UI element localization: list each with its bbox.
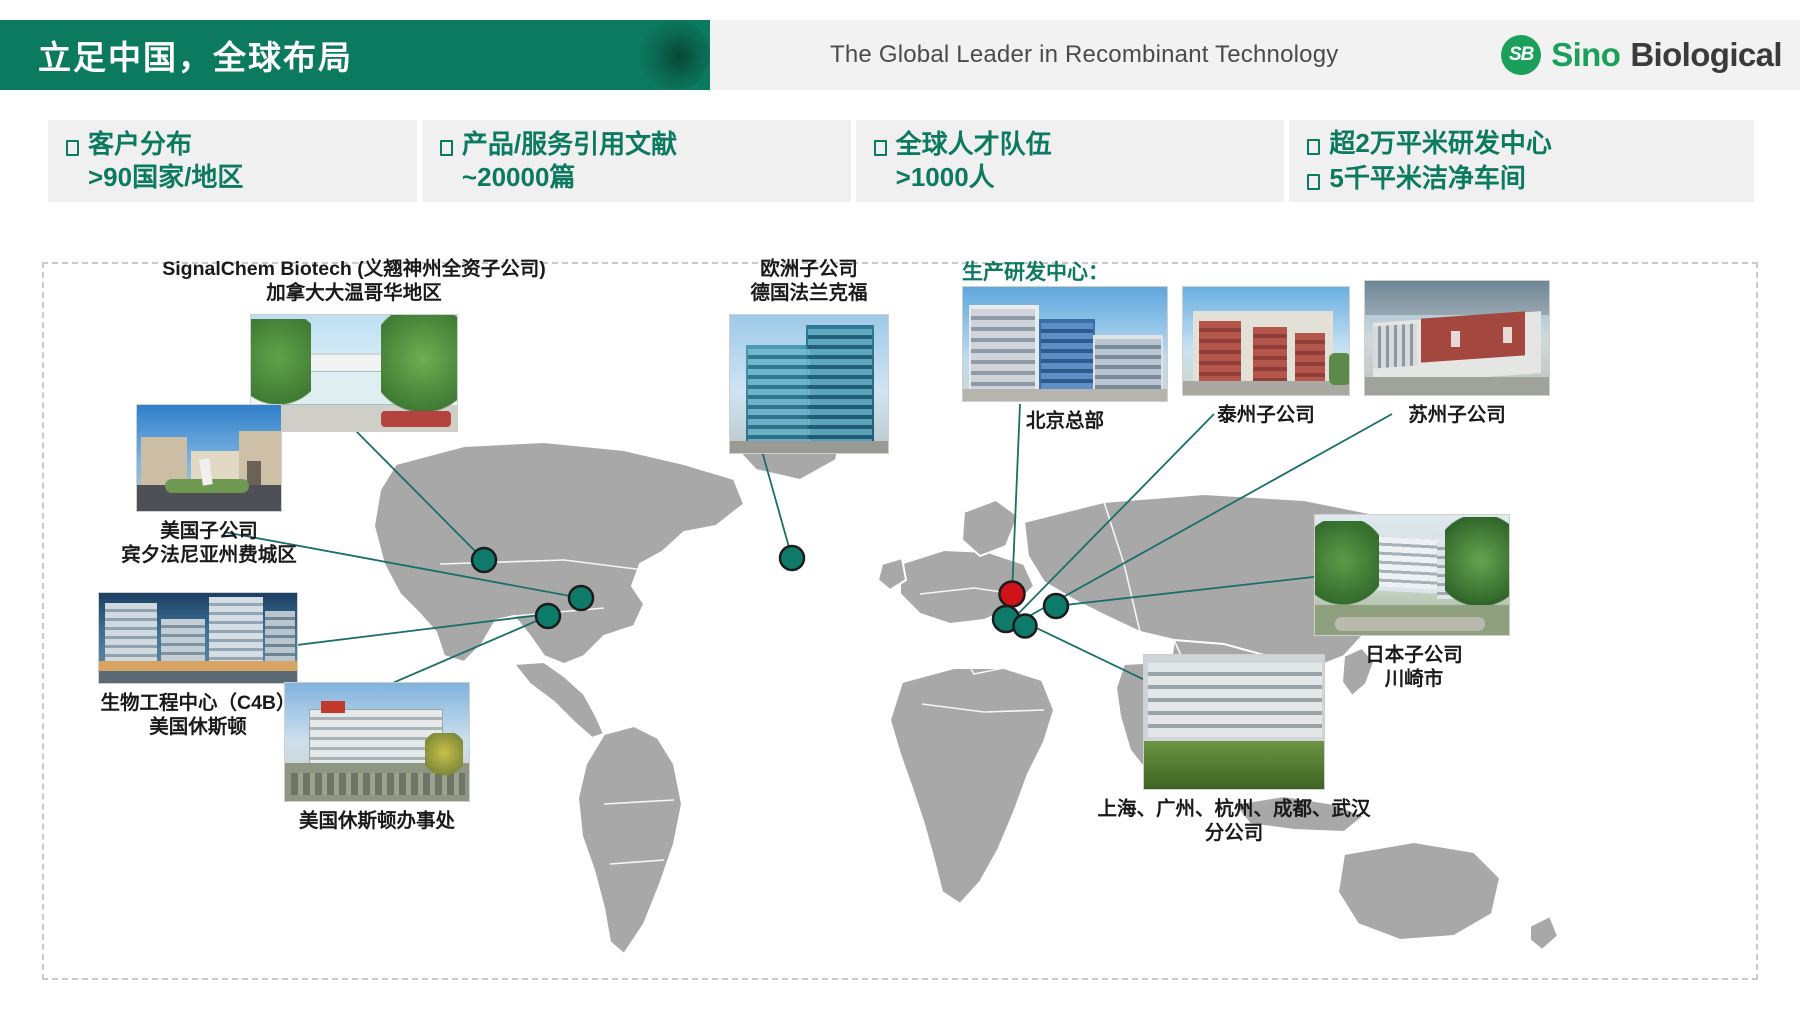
slide-root: 立足中国，全球布局 The Global Leader in Recombina… bbox=[0, 0, 1800, 1013]
stat-card-talent: 全球人才队伍 >1000人 bbox=[856, 120, 1285, 202]
logo-text-biological: Biological bbox=[1630, 36, 1782, 74]
photo-china-branches-building bbox=[1143, 654, 1325, 790]
callout-caption-line1: 美国子公司 bbox=[74, 520, 344, 544]
stat-card-facilities: 超2万平米研发中心 5千平米洁净车间 bbox=[1289, 120, 1754, 202]
title-banner: 立足中国，全球布局 bbox=[0, 20, 710, 90]
callout-caption-beijing: 北京总部 bbox=[962, 410, 1168, 434]
callout-caption-houston-office: 美国休斯顿办事处 bbox=[262, 810, 492, 834]
callout-caption-line2: 加拿大大温哥华地区 bbox=[144, 282, 564, 306]
callout-suzhou: 苏州子公司 bbox=[1364, 280, 1550, 428]
stat-label: 全球人才队伍 bbox=[896, 128, 1052, 161]
callout-beijing: 北京总部 bbox=[962, 286, 1168, 434]
photo-europe-building bbox=[729, 314, 889, 454]
stat-card-customers: 客户分布 >90国家/地区 bbox=[48, 120, 417, 202]
stats-row: 客户分布 >90国家/地区 产品/服务引用文献 ~20000篇 全球人才队伍 >… bbox=[48, 120, 1754, 202]
rnd-center-heading: 生产研发中心： bbox=[962, 256, 1109, 286]
photo-japan-building bbox=[1314, 514, 1510, 636]
callout-caption-line1: 上海、广州、杭州、成都、武汉 bbox=[1054, 798, 1414, 822]
logo-badge-icon: SB bbox=[1501, 35, 1541, 75]
rnd-center-heading-wrap: 生产研发中心： bbox=[962, 256, 1109, 286]
callout-caption-line2: 分公司 bbox=[1054, 822, 1414, 846]
callout-houston-office: 美国休斯顿办事处 bbox=[262, 682, 492, 834]
callout-caption-line1: SignalChem Biotech (义翘神州全资子公司) bbox=[144, 258, 564, 282]
checkbox-bullet-icon bbox=[66, 140, 79, 156]
stat-label: 产品/服务引用文献 bbox=[462, 128, 677, 161]
callout-europe: 欧洲子公司 德国法兰克福 bbox=[694, 258, 924, 454]
marker-suzhou bbox=[1014, 615, 1037, 638]
banner-cap-decoration bbox=[640, 20, 710, 90]
marker-kawasaki bbox=[1044, 594, 1068, 618]
callout-caption-line1: 欧洲子公司 bbox=[694, 258, 924, 282]
page-header: 立足中国，全球布局 The Global Leader in Recombina… bbox=[0, 20, 1800, 90]
world-map-panel: SignalChem Biotech (义翘神州全资子公司) 加拿大大温哥华地区… bbox=[42, 262, 1758, 980]
tagline: The Global Leader in Recombinant Technol… bbox=[830, 41, 1338, 69]
photo-c4b-building bbox=[98, 592, 298, 684]
page-title: 立足中国，全球布局 bbox=[38, 31, 353, 79]
callout-caption-line2: 宾夕法尼亚州费城区 bbox=[74, 544, 344, 568]
marker-philadelphia bbox=[569, 586, 593, 610]
stat-label-2: 5千平米洁净车间 bbox=[1329, 162, 1525, 195]
brand-logo: SB SinoBiological bbox=[1501, 35, 1782, 75]
marker-vancouver bbox=[472, 548, 496, 572]
marker-houston bbox=[536, 604, 560, 628]
callout-taizhou: 泰州子公司 bbox=[1182, 286, 1350, 428]
callout-caption-line2: 德国法兰克福 bbox=[694, 282, 924, 306]
stat-value: ~20000篇 bbox=[440, 161, 851, 194]
photo-taizhou-building bbox=[1182, 286, 1350, 396]
marker-frankfurt bbox=[780, 546, 804, 570]
stat-value: >1000人 bbox=[874, 161, 1285, 194]
logo-text-sino: Sino bbox=[1551, 36, 1620, 74]
callout-caption-suzhou: 苏州子公司 bbox=[1364, 404, 1550, 428]
stat-card-citations: 产品/服务引用文献 ~20000篇 bbox=[422, 120, 851, 202]
marker-beijing bbox=[1000, 582, 1025, 607]
photo-beijing-hq bbox=[962, 286, 1168, 402]
photo-usa-pa-building bbox=[136, 404, 282, 512]
checkbox-bullet-icon bbox=[1307, 139, 1320, 155]
stat-value: >90国家/地区 bbox=[66, 161, 417, 194]
stat-label: 超2万平米研发中心 bbox=[1329, 127, 1551, 160]
callout-usa-pa: 美国子公司 宾夕法尼亚州费城区 bbox=[74, 404, 344, 568]
callout-caption-taizhou: 泰州子公司 bbox=[1182, 404, 1350, 428]
photo-suzhou-building bbox=[1364, 280, 1550, 396]
photo-houston-office-building bbox=[284, 682, 470, 802]
checkbox-bullet-icon bbox=[874, 140, 887, 156]
callout-china-branches: 上海、广州、杭州、成都、武汉 分公司 bbox=[1054, 654, 1414, 846]
checkbox-bullet-icon bbox=[1307, 174, 1320, 190]
checkbox-bullet-icon bbox=[440, 140, 453, 156]
stat-label: 客户分布 bbox=[88, 128, 192, 161]
